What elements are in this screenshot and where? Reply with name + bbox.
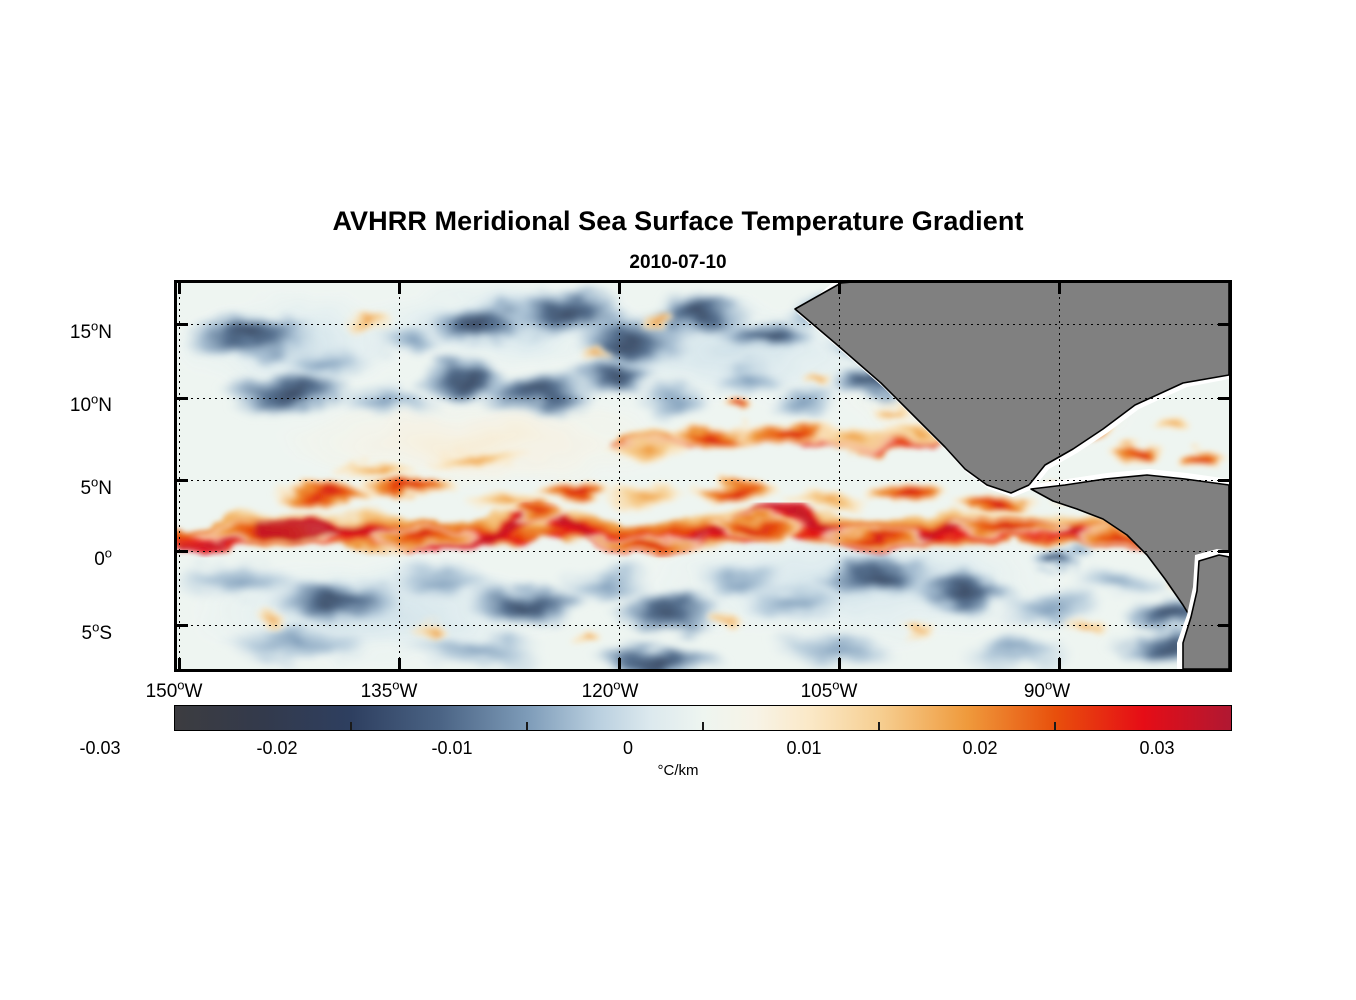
map-axes[interactable] [174, 280, 1232, 672]
ytick-0-right [1218, 550, 1229, 553]
xtick-105w-top [838, 283, 841, 294]
colorbar-label-0.03: 0.03 [1082, 738, 1232, 759]
ytick-label-0: 0o [0, 549, 112, 571]
colorbar-label-0.02: 0.02 [905, 738, 1055, 759]
ytick-5n-left [177, 479, 188, 482]
ytick-5s-left [177, 624, 188, 627]
figure-title: AVHRR Meridional Sea Surface Temperature… [0, 206, 1356, 237]
ytick-15n-right [1218, 323, 1229, 326]
ytick-label-15n: 15oN [0, 322, 112, 344]
xtick-label-120w: 120oW [530, 681, 690, 703]
xtick-label-135w: 135oW [309, 681, 469, 703]
colorbar-tick--0.02 [350, 722, 352, 730]
colorbar-label-0.01: 0.01 [729, 738, 879, 759]
xtick-120w-bottom [618, 658, 621, 669]
xtick-90w-top [1058, 283, 1061, 294]
colorbar-unit-label: °C/km [0, 762, 1356, 779]
colorbar-label-0: 0 [553, 738, 703, 759]
xtick-label-150w: 150oW [94, 681, 254, 703]
ytick-5n-right [1218, 479, 1229, 482]
colorbar-tick-0 [702, 722, 704, 730]
ytick-label-5s: 5oS [0, 623, 112, 645]
xtick-105w-bottom [838, 658, 841, 669]
colorbar-label--0.01: -0.01 [377, 738, 527, 759]
ytick-15n-left [177, 323, 188, 326]
ytick-10n-right [1218, 397, 1229, 400]
figure-canvas: AVHRR Meridional Sea Surface Temperature… [0, 0, 1356, 1000]
ytick-label-5n: 5oN [0, 478, 112, 500]
figure-subtitle: 2010-07-10 [0, 252, 1356, 274]
ytick-label-10n: 10oN [0, 395, 112, 417]
colorbar-tick-0.02 [1054, 722, 1056, 730]
colorbar-tick--0.01 [526, 722, 528, 730]
ytick-0-left [177, 550, 188, 553]
colorbar-label--0.03: -0.03 [25, 738, 175, 759]
xtick-label-90w: 90oW [967, 681, 1127, 703]
colorbar-tick-0.01 [878, 722, 880, 730]
xtick-135w-bottom [398, 658, 401, 669]
xtick-150w-top [178, 283, 181, 294]
xtick-90w-bottom [1058, 658, 1061, 669]
ytick-10n-left [177, 397, 188, 400]
colorbar-label--0.02: -0.02 [202, 738, 352, 759]
xtick-135w-top [398, 283, 401, 294]
xtick-label-105w: 105oW [749, 681, 909, 703]
xtick-150w-bottom [178, 658, 181, 669]
xtick-120w-top [618, 283, 621, 294]
sst-gradient-heatmap [177, 283, 1229, 669]
colorbar[interactable] [174, 705, 1232, 731]
sst-gradient-field [177, 283, 1229, 669]
ytick-5s-right [1218, 624, 1229, 627]
